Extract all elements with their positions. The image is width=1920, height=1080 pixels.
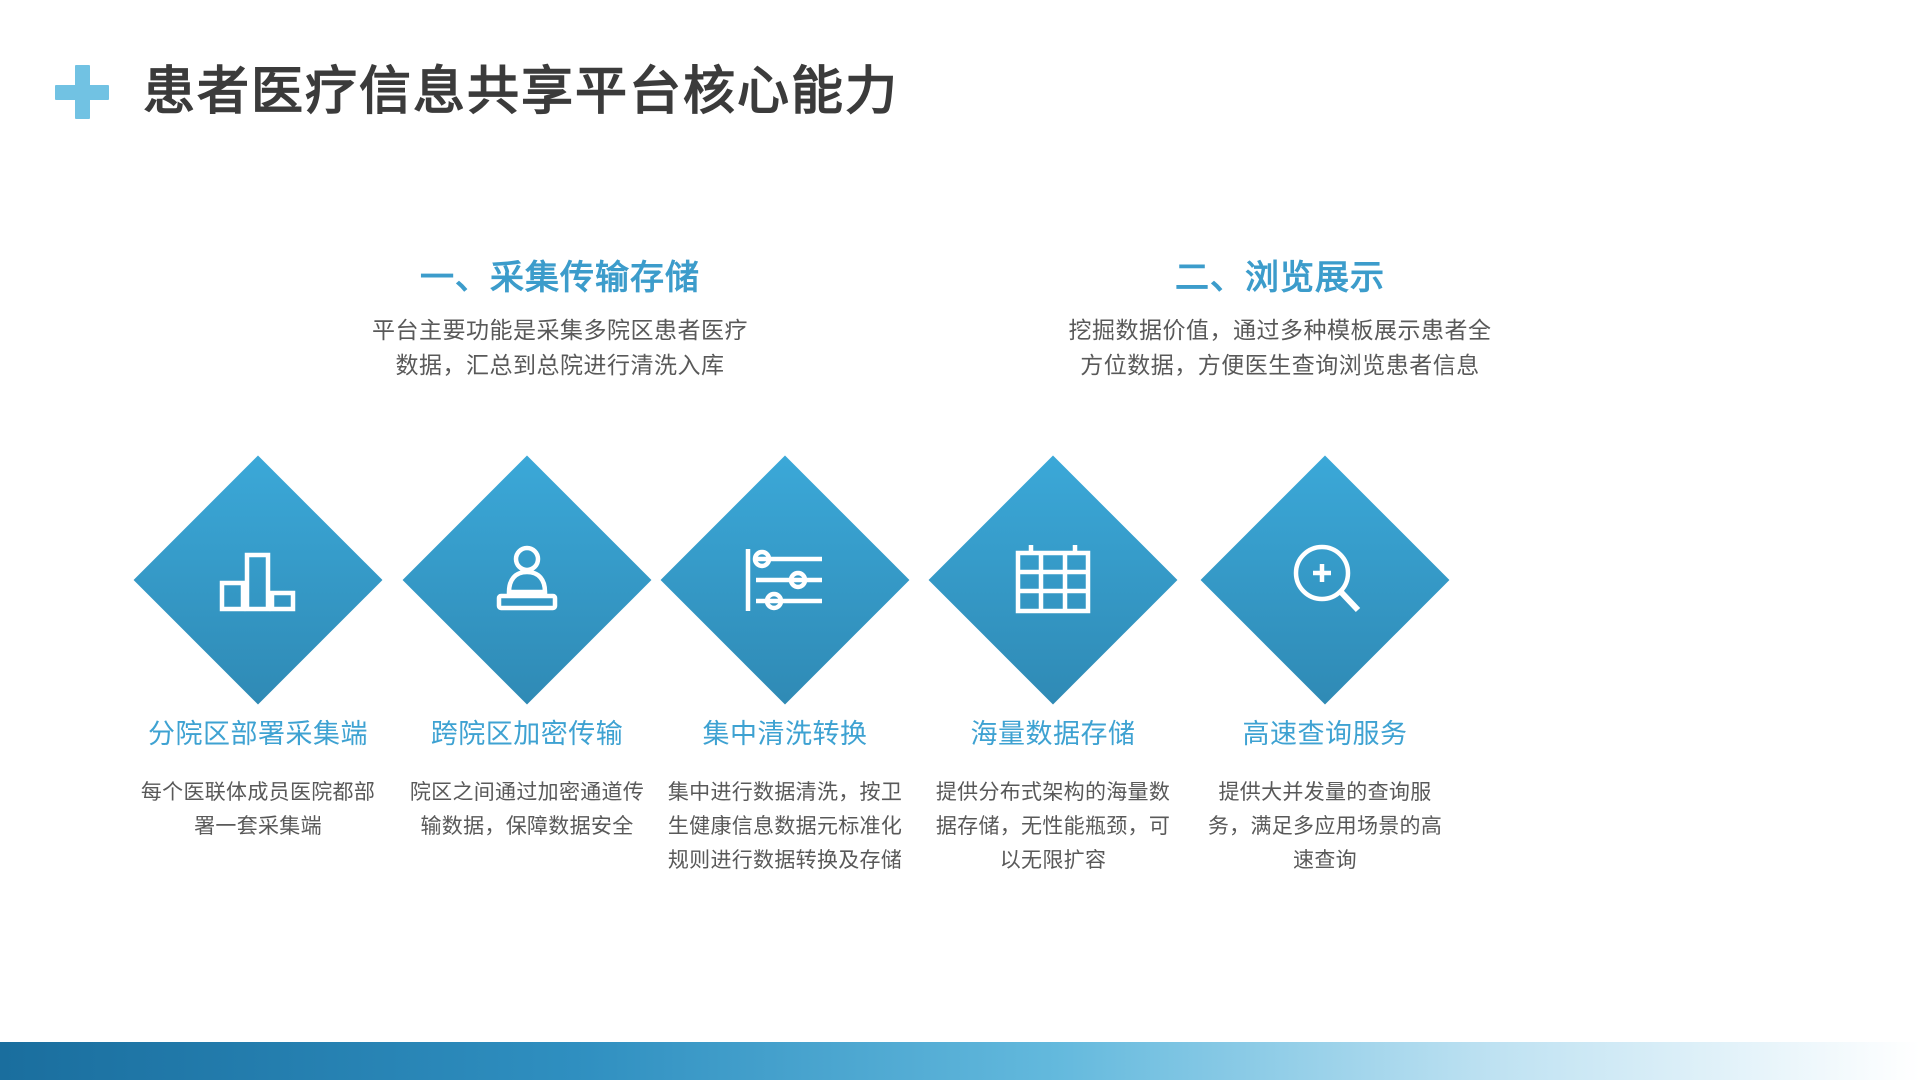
section-heading-2: 二、浏览展示 [1000,258,1560,299]
page-title-row: 患者医疗信息共享平台核心能力 [55,52,899,132]
card-title: 集中清洗转换 [660,717,910,752]
card-title: 跨院区加密传输 [402,717,652,752]
card-title: 分院区部署采集端 [133,717,383,752]
stamp-icon [479,532,575,628]
section-block-2: 二、浏览展示 挖掘数据价值，通过多种模板展示患者全 方位数据，方便医生查询浏览患… [1000,258,1560,384]
section-desc-line: 挖掘数据价值，通过多种模板展示患者全 [1000,313,1560,349]
card-description: 院区之间通过加密通道传输数据，保障数据安全 [402,776,652,844]
capability-card[interactable]: 集中清洗转换 集中进行数据清洗，按卫生健康信息数据元标准化规则进行数据转换及存储 [660,455,910,878]
diamond-badge [133,455,383,705]
card-description: 每个医联体成员医院都部署一套采集端 [133,776,383,844]
diamond-badge [928,455,1178,705]
capability-card[interactable]: 跨院区加密传输 院区之间通过加密通道传输数据，保障数据安全 [402,455,652,844]
diamond-badge [402,455,652,705]
diamond-badge [1200,455,1450,705]
sections-container: 一、采集传输存储 平台主要功能是采集多院区患者医疗 数据，汇总到总院进行清洗入库… [0,258,1920,418]
card-description: 提供大并发量的查询服务，满足多应用场景的高速查询 [1200,776,1450,878]
page-title: 患者医疗信息共享平台核心能力 [143,66,899,118]
sliders-icon [737,532,833,628]
section-desc-line: 方位数据，方便医生查询浏览患者信息 [1000,348,1560,384]
footer-gradient-bar [0,1042,1920,1080]
card-title: 高速查询服务 [1200,717,1450,752]
section-heading-1: 一、采集传输存储 [300,258,820,299]
card-description: 提供分布式架构的海量数据存储，无性能瓶颈，可以无限扩容 [928,776,1178,878]
section-block-1: 一、采集传输存储 平台主要功能是采集多院区患者医疗 数据，汇总到总院进行清洗入库 [300,258,820,384]
diamond-badge [660,455,910,705]
search-plus-icon [1277,532,1373,628]
capability-card[interactable]: 分院区部署采集端 每个医联体成员医院都部署一套采集端 [133,455,383,844]
section-description-1: 平台主要功能是采集多院区患者医疗 数据，汇总到总院进行清洗入库 [300,313,820,384]
card-description: 集中进行数据清洗，按卫生健康信息数据元标准化规则进行数据转换及存储 [660,776,910,878]
section-description-2: 挖掘数据价值，通过多种模板展示患者全 方位数据，方便医生查询浏览患者信息 [1000,313,1560,384]
card-title: 海量数据存储 [928,717,1178,752]
capability-card[interactable]: 高速查询服务 提供大并发量的查询服务，满足多应用场景的高速查询 [1200,455,1450,878]
section-desc-line: 数据，汇总到总院进行清洗入库 [300,348,820,384]
capability-cards: 分院区部署采集端 每个医联体成员医院都部署一套采集端 跨院区加密传输 院区之间通… [0,455,1920,975]
section-desc-line: 平台主要功能是采集多院区患者医疗 [300,313,820,349]
grid-table-icon [1005,532,1101,628]
bar-chart-icon [210,532,306,628]
plus-icon [55,65,109,119]
capability-card[interactable]: 海量数据存储 提供分布式架构的海量数据存储，无性能瓶颈，可以无限扩容 [928,455,1178,878]
